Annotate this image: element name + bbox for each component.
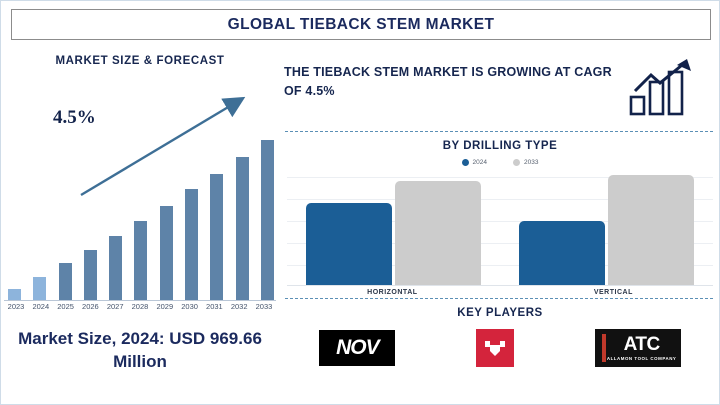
bar-chart-growth-icon: [629, 57, 703, 117]
bar-series: [6, 100, 276, 300]
bar-2023: [8, 289, 21, 300]
atc-logo-subtext: ALLAMON TOOL COMPANY: [607, 356, 677, 361]
page-title: GLOBAL TIEBACK STEM MARKET: [228, 16, 495, 34]
chart-legend: 20242033: [279, 159, 720, 166]
key-players-title: KEY PLAYERS: [279, 307, 720, 319]
bar-horizontal-2033: [395, 181, 481, 285]
year-label-2026: 2026: [78, 302, 102, 311]
bar-vertical-2024: [519, 221, 605, 285]
bar-2026: [84, 250, 97, 300]
bar-2024: [33, 277, 46, 300]
market-size-bar-chart: [6, 100, 276, 300]
drilling-type-chart: [287, 175, 713, 291]
atc-logo: ATC ALLAMON TOOL COMPANY: [595, 329, 681, 367]
heart-chevron-icon: [483, 337, 507, 359]
bar-2027: [109, 236, 122, 300]
bar-group-vertical: [519, 175, 694, 285]
nov-logo-text: NOV: [336, 336, 379, 360]
bar-2030: [185, 189, 198, 300]
bar-horizontal-2024: [306, 203, 392, 285]
legend-label: 2024: [473, 159, 487, 166]
legend-item-2024: 2024: [462, 159, 487, 166]
legend-item-2033: 2033: [513, 159, 538, 166]
year-label-2025: 2025: [54, 302, 78, 311]
year-axis-labels: 2023202420252026202720282029203020312032…: [4, 302, 276, 311]
bar-2031: [210, 174, 223, 300]
legend-dot-icon: [513, 159, 520, 166]
atc-red-bar: [602, 334, 606, 362]
bar-2032: [236, 157, 249, 300]
legend-label: 2033: [524, 159, 538, 166]
key-players-logos: NOV ATC ALLAMON TOOL COMPANY: [279, 329, 720, 367]
legend-dot-icon: [462, 159, 469, 166]
market-size-statement: Market Size, 2024: USD 969.66 Million: [1, 328, 279, 374]
left-chart-axis: [4, 300, 276, 301]
category-label-vertical: VERTICAL: [594, 289, 633, 296]
year-label-2031: 2031: [202, 302, 226, 311]
year-label-2024: 2024: [29, 302, 53, 311]
infographic-page: GLOBAL TIEBACK STEM MARKET MARKET SIZE &…: [0, 0, 720, 405]
grouped-bar-series: [287, 175, 713, 285]
left-section-title: MARKET SIZE & FORECAST: [1, 55, 279, 67]
bar-2033: [261, 140, 274, 300]
category-label-horizontal: HORIZONTAL: [367, 289, 417, 296]
divider-top: [285, 131, 713, 132]
growth-headline: THE TIEBACK STEM MARKET IS GROWING AT CA…: [284, 63, 614, 101]
right-panel: THE TIEBACK STEM MARKET IS GROWING AT CA…: [279, 45, 720, 403]
nov-logo: NOV: [319, 330, 395, 366]
year-label-2030: 2030: [178, 302, 202, 311]
year-label-2029: 2029: [153, 302, 177, 311]
year-label-2028: 2028: [128, 302, 152, 311]
bar-2028: [134, 221, 147, 300]
divider-bottom: [285, 298, 713, 299]
year-label-2033: 2033: [252, 302, 276, 311]
year-label-2027: 2027: [103, 302, 127, 311]
category-labels: HORIZONTALVERTICAL: [279, 289, 720, 296]
weatherford-logo: [476, 329, 514, 367]
title-banner: GLOBAL TIEBACK STEM MARKET: [11, 9, 711, 40]
year-label-2023: 2023: [4, 302, 28, 311]
bar-group-horizontal: [306, 181, 481, 285]
bar-2025: [59, 263, 72, 300]
bar-vertical-2033: [608, 175, 694, 285]
segment-title: BY DRILLING TYPE: [279, 140, 720, 152]
year-label-2032: 2032: [227, 302, 251, 311]
atc-logo-text: ATC: [624, 335, 660, 354]
bar-2029: [160, 206, 173, 300]
market-size-panel: MARKET SIZE & FORECAST 4.5% 202320242025…: [1, 45, 279, 400]
